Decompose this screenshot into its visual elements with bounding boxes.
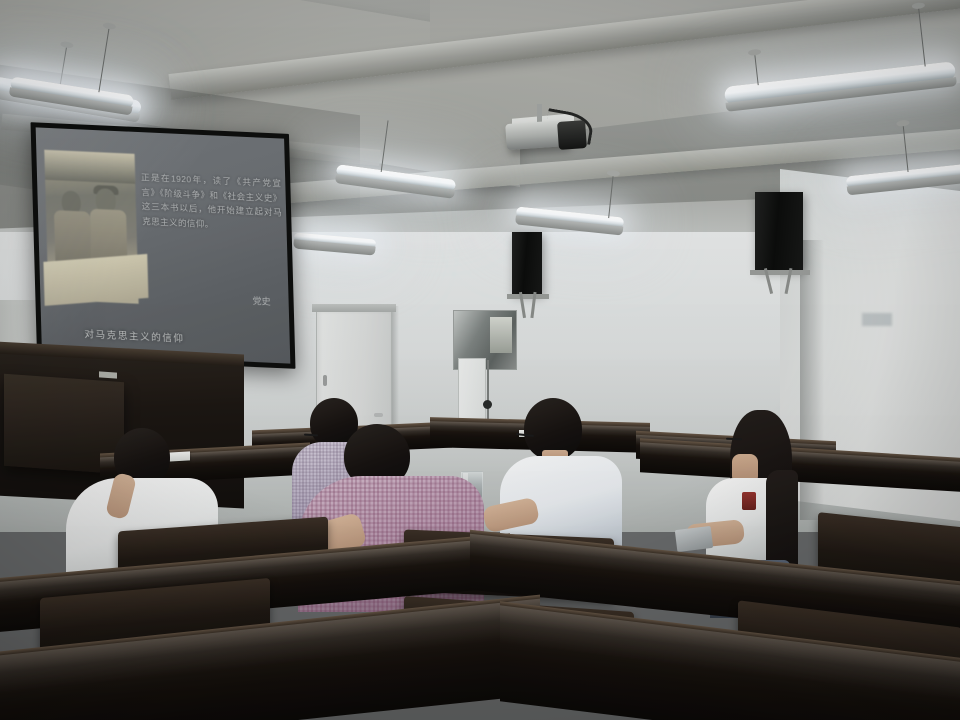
podium-paper [99,371,117,378]
red-cup[interactable] [742,492,756,510]
door-handle[interactable] [323,375,327,386]
attendee-5-glasses [726,438,742,441]
slide-seal-text: 党史 [250,296,273,327]
projector-lens-housing [557,120,587,150]
wall-speaker-left [512,232,542,294]
wall-socket [483,400,492,409]
slide-historic-photo [44,150,138,304]
door-lintel [312,304,396,312]
lecture-hall-photo: 正是在1920年，读了《共产党宣言》《阶级斗争》和《社会主义史》这三本书以后，他… [0,0,960,720]
wall-conduit [487,360,489,422]
panel-interior [490,317,512,353]
slide-caption: 对马克思主义的信仰 [59,325,210,346]
screen-surface: 正是在1920年，读了《共产党宣言》《阶级斗争》和《社会主义史》这三本书以后，他… [36,127,291,363]
slide-body-text: 正是在1920年，读了《共产党宣言》《阶级斗争》和《社会主义史》这三本书以后，他… [141,170,283,234]
wall-speaker-right [755,192,803,270]
mobile-device[interactable] [675,526,713,552]
projection-screen: 正是在1920年，读了《共产党宣言》《阶级斗争》和《社会主义史》这三本书以后，他… [31,122,296,369]
wall-scuff-mark [862,313,892,326]
